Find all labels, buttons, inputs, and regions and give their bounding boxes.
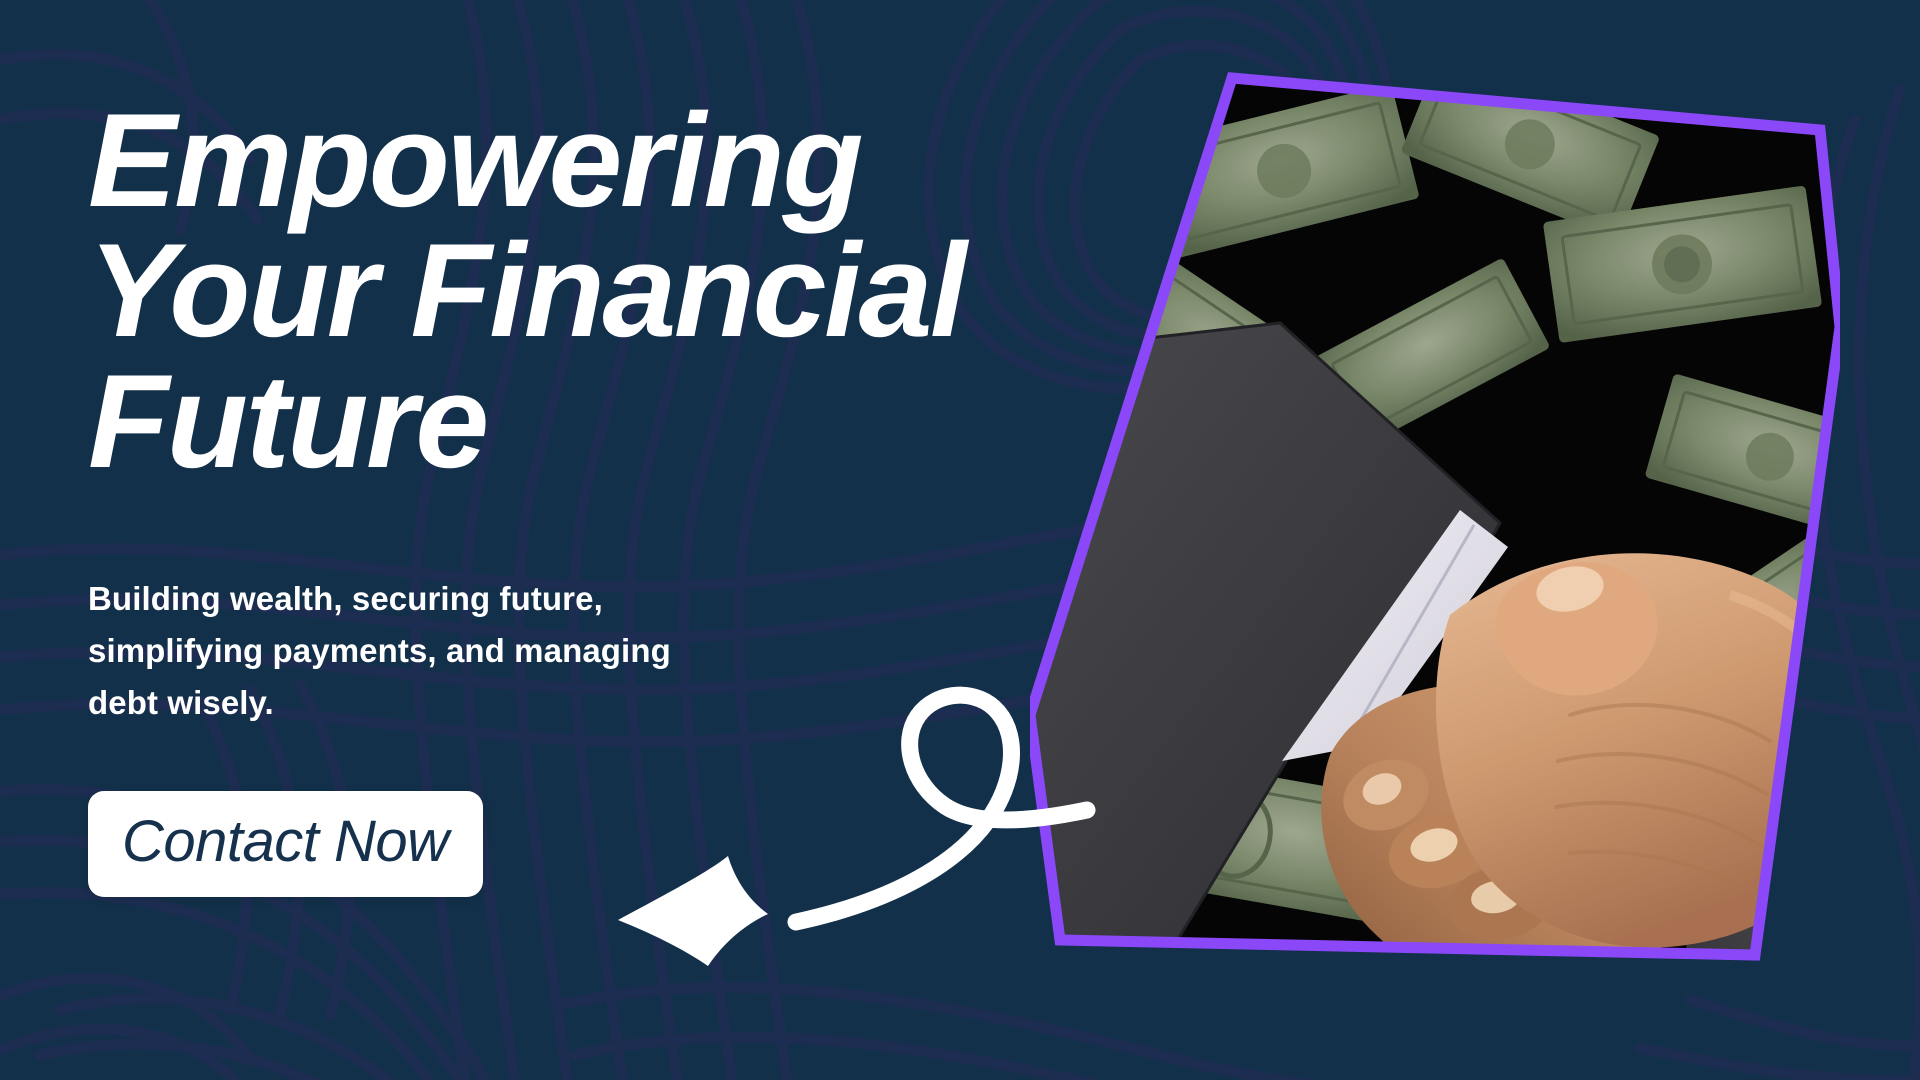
- subheadline: Building wealth, securing future, simpli…: [88, 573, 778, 729]
- headline-line-2: Your Financial: [88, 226, 1098, 356]
- text-column: Empowering Your Financial Future Buildin…: [88, 96, 1108, 897]
- page-title: Empowering Your Financial Future: [88, 96, 1098, 487]
- subheadline-line-1: Building wealth, securing future,: [88, 573, 778, 625]
- subheadline-line-2: simplifying payments, and managing: [88, 625, 778, 677]
- photo-content: [1030, 55, 1840, 985]
- headline-line-3: Future: [88, 357, 1098, 487]
- headline-line-1: Empowering: [88, 96, 1098, 226]
- subheadline-line-3: debt wisely.: [88, 677, 778, 729]
- photo-frame: [1030, 55, 1840, 985]
- marketing-banner: Empowering Your Financial Future Buildin…: [0, 0, 1920, 1080]
- contact-now-button[interactable]: Contact Now: [88, 791, 483, 897]
